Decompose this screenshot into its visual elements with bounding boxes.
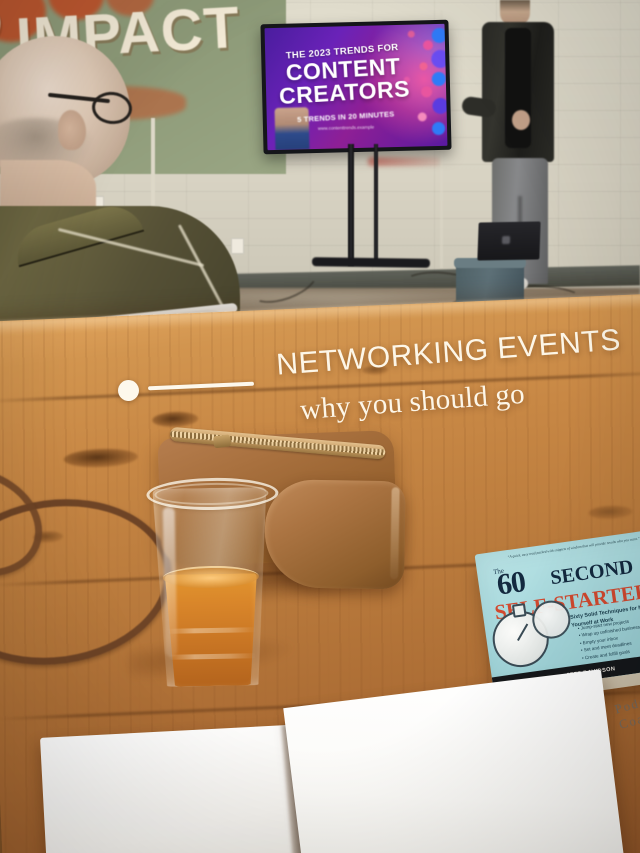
presentation-tv: THE 2023 TRENDS FOR CONTENT CREATORS 5 T… [260, 20, 451, 155]
book-cover: “A quick, easy read packed with snippets… [475, 527, 640, 693]
tv-stand-base [312, 257, 430, 268]
stopwatch-crown [512, 603, 527, 618]
book-bullet-list: Jump-start new projects Wrap up unfinish… [577, 616, 640, 661]
tv-bezel: THE 2023 TRENDS FOR CONTENT CREATORS 5 T… [260, 20, 451, 155]
bag-front-seam [390, 487, 400, 579]
drink-cup [146, 477, 276, 691]
tv-screen: THE 2023 TRENDS FOR CONTENT CREATORS 5 T… [265, 24, 448, 150]
open-notebook: Podcast Coach [44, 702, 604, 853]
tv-stand-pole-right [374, 144, 378, 262]
wall-outlet [231, 238, 244, 254]
presenter-hand [512, 110, 530, 130]
presenter-shirt [505, 28, 531, 148]
slide-title: CONTENT CREATORS [265, 54, 423, 109]
bag-front-flap [264, 479, 406, 589]
tv-stand-pole-left [348, 144, 354, 266]
video-frame: O IMPACT [0, 0, 640, 853]
attendee-ear [58, 110, 86, 150]
wall-red-marking [368, 157, 440, 166]
laptop [477, 221, 540, 260]
bag-zipper-pull [213, 434, 231, 448]
laptop-logo [502, 236, 510, 244]
